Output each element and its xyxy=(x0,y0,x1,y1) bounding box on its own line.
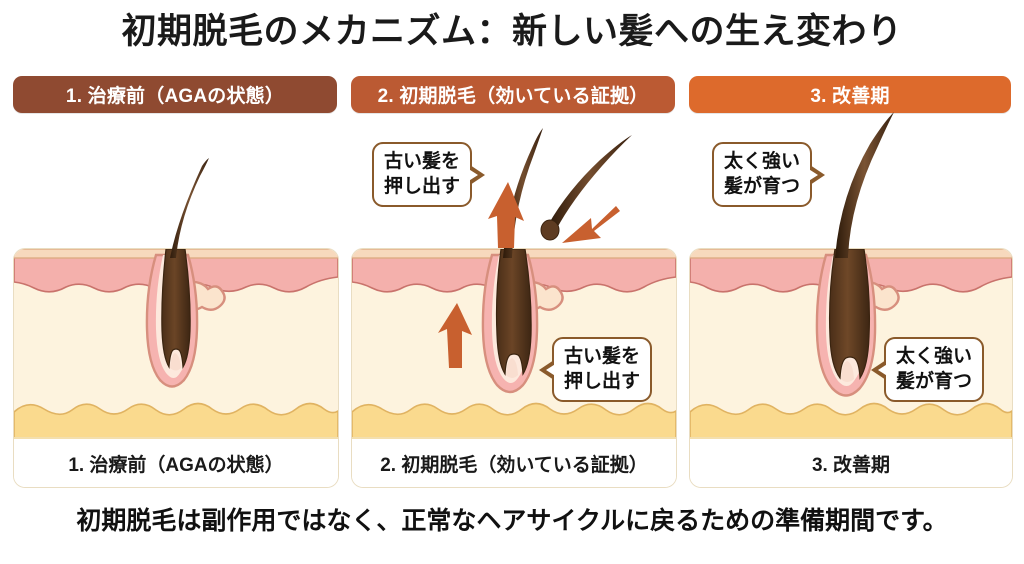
stage-header-2: 2. 初期脱毛（効いている証拠） xyxy=(351,76,675,113)
bubble-line-2: 髪が育つ xyxy=(724,174,800,199)
bubble-line-1: 古い髪を xyxy=(564,344,640,369)
bubble-line-1: 太く強い xyxy=(724,149,800,174)
bubble-line-2: 髪が育つ xyxy=(896,369,972,394)
page-title: 初期脱毛のメカニズム：新しい髪への生え変わり xyxy=(0,10,1024,54)
bubble-line-1: 太く強い xyxy=(896,344,972,369)
bubble-tail-icon xyxy=(810,165,825,185)
bubble-strong-hair-bottom: 太く強い 髪が育つ xyxy=(884,337,984,402)
bubble-tail-icon xyxy=(470,165,485,185)
hair-old-detached-stage2 xyxy=(541,135,632,240)
stage-caption-2: 2. 初期脱毛（効いている証拠） xyxy=(352,437,676,487)
bubble-strong-hair-top: 太く強い 髪が育つ xyxy=(712,142,812,207)
hair-new-stage2 xyxy=(503,128,543,258)
stage-caption-1: 1. 治療前（AGAの状態） xyxy=(14,437,338,487)
bubble-push-out-bottom: 古い髪を 押し出す xyxy=(552,337,652,402)
bubble-line-2: 押し出す xyxy=(564,369,640,394)
bubble-push-out-top: 古い髪を 押し出す xyxy=(372,142,472,207)
hair-thin-stage1 xyxy=(170,158,209,258)
arrow-down-left-stage2 xyxy=(562,206,620,243)
hair-thick-stage3 xyxy=(835,112,894,258)
bubble-tail-icon xyxy=(539,360,554,380)
bubble-line-1: 古い髪を xyxy=(384,149,460,174)
bubble-tail-icon xyxy=(871,360,886,380)
stage-header-1: 1. 治療前（AGAの状態） xyxy=(13,76,337,113)
arrow-up-outside-stage2 xyxy=(488,182,524,248)
bubble-line-2: 押し出す xyxy=(384,174,460,199)
stage-header-3: 3. 改善期 xyxy=(689,76,1011,113)
stage-panel-1: 1. 治療前（AGAの状態） xyxy=(13,248,339,488)
stage-caption-3: 3. 改善期 xyxy=(690,437,1012,487)
skin-cross-section-1 xyxy=(14,249,338,439)
infographic-root: 初期脱毛のメカニズム：新しい髪への生え変わり 1. 治療前（AGAの状態） 2.… xyxy=(0,0,1024,559)
hair-shafts-above-skin xyxy=(0,108,1024,258)
footer-note: 初期脱毛は副作用ではなく、正常なヘアサイクルに戻るための準備期間です。 xyxy=(0,500,1024,542)
